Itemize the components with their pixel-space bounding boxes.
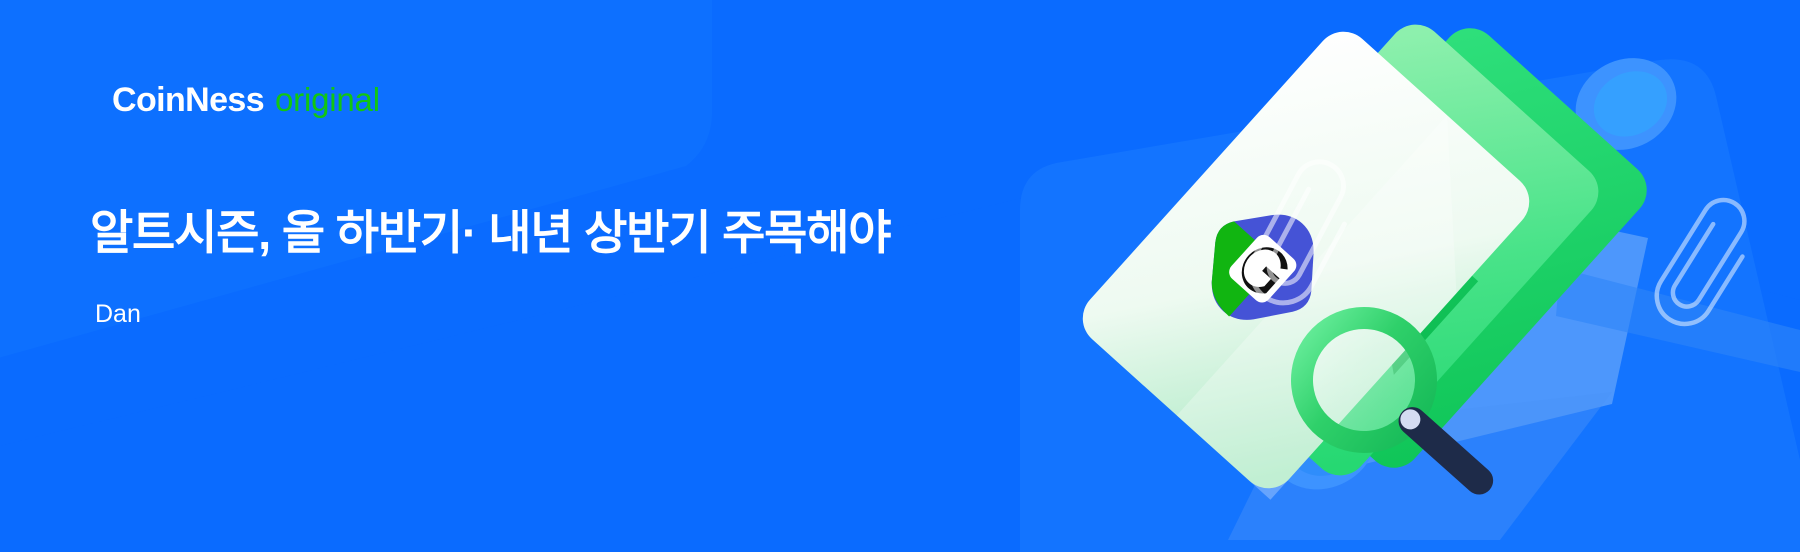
hero-illustration [1060,0,1800,552]
article-hero-banner: CoinNess original 알트시즌, 올 하반기· 내년 상반기 주목… [0,0,1800,552]
coinness-original-logo[interactable]: CoinNess original [112,83,380,117]
documents-search-illustration [1060,0,1800,552]
article-author: Dan [95,302,141,327]
paperclip-right-icon [1646,192,1764,334]
magnifier-handle [1413,415,1480,487]
logo-suffix-text: original [275,83,380,116]
article-title: 알트시즌, 올 하반기· 내년 상반기 주목해야 [90,204,890,263]
hero-text-column: CoinNess original 알트시즌, 올 하반기· 내년 상반기 주목… [0,0,1060,552]
logo-brand-text: CoinNess [112,83,264,117]
